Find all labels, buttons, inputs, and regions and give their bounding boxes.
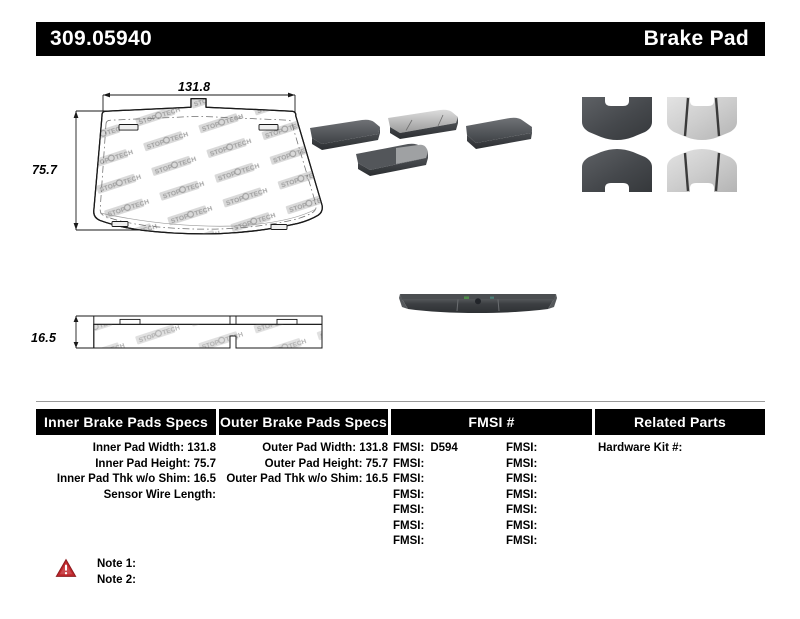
spec-sensor-wire-length: Sensor Wire Length: (36, 488, 216, 504)
width-dimension-label: 131.8 (178, 80, 210, 94)
fmsi-label: FMSI: (393, 534, 424, 550)
header-bar: 309.05940 Brake Pad (36, 22, 765, 56)
fmsi-row: FMSI: (393, 472, 473, 488)
fmsi-label: FMSI: (506, 503, 537, 519)
warning-triangle-icon (55, 558, 77, 578)
fmsi-row: FMSI: (506, 503, 586, 519)
column-header-outer-specs: Outer Brake Pads Specs (219, 409, 388, 435)
spec-outer-pad-height: Outer Pad Height: 75.7 (219, 457, 388, 473)
related-hardware-kit: Hardware Kit #: (598, 441, 763, 457)
fmsi-label: FMSI: (506, 457, 537, 473)
fmsi-label: FMSI: (506, 519, 537, 535)
outer-specs-column: Outer Pad Width: 131.8 Outer Pad Height:… (219, 441, 388, 488)
fmsi-label: FMSI: (393, 457, 424, 473)
fmsi-label: FMSI: (393, 488, 424, 504)
spec-inner-pad-width: Inner Pad Width: 131.8 (36, 441, 216, 457)
table-top-rule (36, 401, 765, 402)
fmsi-label: FMSI: (506, 441, 537, 457)
product-type: Brake Pad (644, 27, 749, 51)
fmsi-label: FMSI: (393, 519, 424, 535)
table-header-row: Inner Brake Pads Specs Outer Brake Pads … (36, 409, 765, 435)
fmsi-row: FMSI:D594 (393, 441, 473, 457)
fmsi-label: FMSI: (393, 441, 424, 457)
height-dimension-label: 75.7 (32, 163, 57, 177)
fmsi-column-b: FMSI: FMSI: FMSI: FMSI: FMSI: FMSI: FMSI… (506, 441, 586, 550)
note-1: Note 1: (97, 556, 136, 572)
fmsi-label: FMSI: (506, 472, 537, 488)
brake-pad-edge-view-photo (398, 288, 558, 318)
fmsi-row: FMSI: (393, 519, 473, 535)
note-2: Note 2: (97, 572, 136, 588)
fmsi-row: FMSI: (506, 441, 586, 457)
fmsi-row: FMSI: (506, 457, 586, 473)
part-number: 309.05940 (50, 27, 152, 51)
fmsi-label: FMSI: (506, 488, 537, 504)
fmsi-row: FMSI: (393, 503, 473, 519)
note-lines: Note 1: Note 2: (97, 556, 136, 588)
fmsi-label: FMSI: (506, 534, 537, 550)
fmsi-value: D594 (424, 441, 458, 457)
inner-specs-column: Inner Pad Width: 131.8 Inner Pad Height:… (36, 441, 216, 503)
thickness-dimension-label: 16.5 (31, 331, 56, 345)
column-header-fmsi: FMSI # (391, 409, 592, 435)
column-header-inner-specs: Inner Brake Pads Specs (36, 409, 216, 435)
related-parts-column: Hardware Kit #: (598, 441, 763, 457)
fmsi-row: FMSI: (506, 472, 586, 488)
fmsi-column-a: FMSI:D594 FMSI: FMSI: FMSI: FMSI: FMSI: … (393, 441, 473, 550)
fmsi-row: FMSI: (393, 488, 473, 504)
column-header-related-parts: Related Parts (595, 409, 765, 435)
spec-sheet: 309.05940 Brake Pad STOP TECH (0, 0, 800, 619)
spec-outer-pad-thickness: Outer Pad Thk w/o Shim: 16.5 (219, 472, 388, 488)
fmsi-row: FMSI: (506, 534, 586, 550)
fmsi-row: FMSI: (393, 534, 473, 550)
fmsi-row: FMSI: (506, 488, 586, 504)
fmsi-label: FMSI: (393, 503, 424, 519)
four-brake-pads-group-photo (300, 100, 535, 180)
spec-inner-pad-height: Inner Pad Height: 75.7 (36, 457, 216, 473)
brake-pads-front-back-grid-photo (575, 92, 745, 197)
fmsi-row: FMSI: (506, 519, 586, 535)
fmsi-label: FMSI: (393, 472, 424, 488)
fmsi-row: FMSI: (393, 457, 473, 473)
side-view-drawing: STOP TECH (60, 300, 400, 362)
spec-outer-pad-width: Outer Pad Width: 131.8 (219, 441, 388, 457)
spec-inner-pad-thickness: Inner Pad Thk w/o Shim: 16.5 (36, 472, 216, 488)
